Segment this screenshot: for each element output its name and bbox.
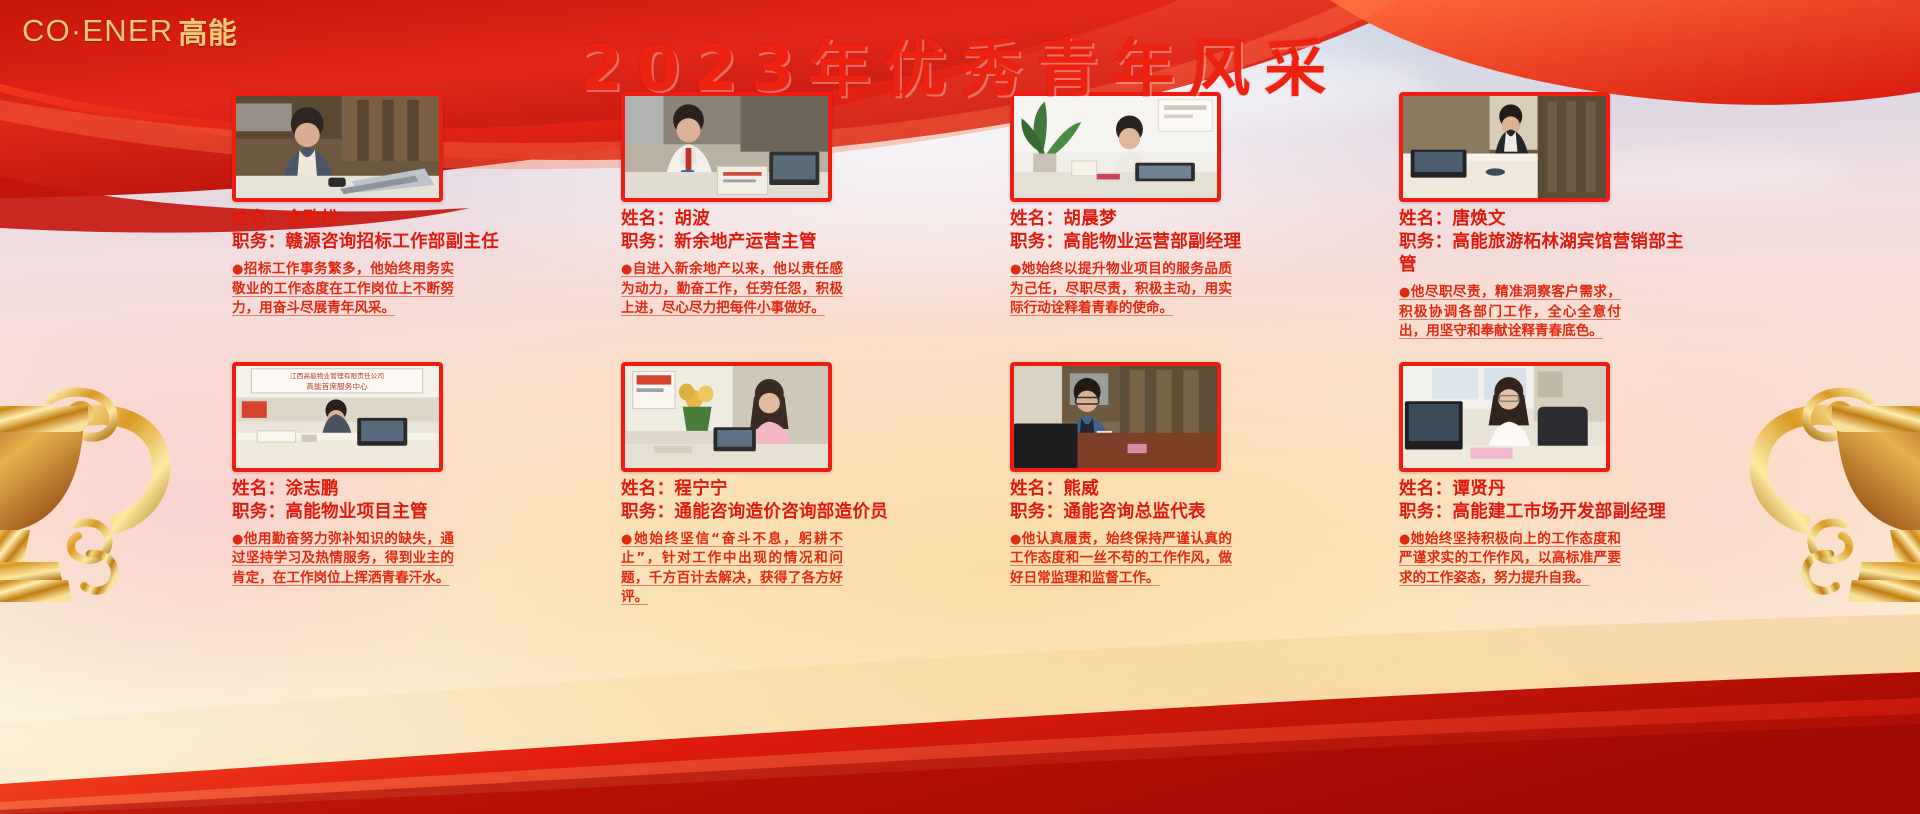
person-name-line: 姓名：谭贤丹 (1399, 478, 1701, 501)
person-name-line: 姓名：余致松 (232, 208, 534, 231)
person-card: 姓名：胡波 职务：新余地产运营主管 ●自进入新余地产以来，他以责任感为动力，勤奋… (621, 92, 923, 342)
person-photo-frame (1010, 92, 1221, 202)
person-photo-frame (1399, 92, 1610, 202)
brand-logo: CO·ENER 高能 (22, 10, 237, 52)
person-description: ●招标工作事务繁多，他始终用务实敬业的工作态度在工作岗位上不断努力，用奋斗尽展青… (232, 260, 454, 319)
bullet-icon: ● (1399, 285, 1411, 300)
svg-text:江西高能物业管理有限责任公司: 江西高能物业管理有限责任公司 (290, 371, 384, 380)
person-name: 程宁宁 (674, 479, 727, 499)
person-duty: 高能物业运营部副经理 (1063, 232, 1241, 252)
name-label: 姓名： (232, 209, 285, 229)
person-duty-line: 职务：高能物业项目主管 (232, 501, 534, 524)
person-photo (625, 96, 828, 198)
person-photo-frame (232, 92, 443, 202)
person-name: 胡波 (674, 209, 710, 229)
person-photo (625, 366, 828, 468)
person-description-text: 他认真履责，始终保持严谨认真的工作态度和一丝不苟的工作作风，做好日常监理和监督工… (1010, 531, 1232, 586)
person-photo (1014, 366, 1217, 468)
person-name: 胡晨梦 (1063, 209, 1116, 229)
person-card: 姓名：余致松 职务：赣源咨询招标工作部副主任 ●招标工作事务繁多，他始终用务实敬… (232, 92, 534, 342)
name-label: 姓名： (621, 479, 674, 499)
duty-label: 职务： (621, 502, 674, 522)
duty-label: 职务： (1010, 232, 1063, 252)
bullet-icon: ● (1010, 532, 1022, 547)
brand-logo-latin: CO·ENER (22, 13, 173, 49)
person-card: 姓名：程宁宁 职务：通能咨询造价咨询部造价员 ●她始终坚信“奋斗不息，躬耕不止”… (621, 362, 923, 608)
person-duty-line: 职务：通能咨询总监代表 (1010, 501, 1312, 524)
person-description: ●她始终坚信“奋斗不息，躬耕不止”，针对工作中出现的情况和问题，千方百计去解决，… (621, 530, 843, 608)
person-duty: 高能建工市场开发部副经理 (1452, 502, 1666, 522)
duty-label: 职务： (1399, 232, 1452, 252)
person-duty: 高能物业项目主管 (285, 502, 427, 522)
person-name-line: 姓名：唐焕文 (1399, 208, 1701, 231)
person-duty: 新余地产运营主管 (674, 232, 816, 252)
brand-logo-cn: 高能 (178, 10, 237, 52)
name-label: 姓名： (1399, 479, 1452, 499)
person-photo (1014, 96, 1217, 198)
person-duty-line: 职务：赣源咨询招标工作部副主任 (232, 231, 534, 254)
person-description: ●她始终坚持积极向上的工作态度和严谨求实的工作作风，以高标准严要求的工作姿态，努… (1399, 530, 1621, 589)
person-description: ●她始终以提升物业项目的服务品质为己任，尽职尽责，积极主动，用实际行动诠释着青春… (1010, 260, 1232, 319)
person-name: 熊威 (1063, 479, 1099, 499)
person-duty: 赣源咨询招标工作部副主任 (285, 232, 499, 252)
duty-label: 职务： (232, 502, 285, 522)
people-grid: 姓名：余致松 职务：赣源咨询招标工作部副主任 ●招标工作事务繁多，他始终用务实敬… (232, 92, 1702, 608)
person-duty-line: 职务：通能咨询造价咨询部造价员 (621, 501, 923, 524)
person-description: ●他认真履责，始终保持严谨认真的工作态度和一丝不苟的工作作风，做好日常监理和监督… (1010, 530, 1232, 589)
person-photo (236, 96, 439, 198)
person-name: 唐焕文 (1452, 209, 1505, 229)
name-label: 姓名： (621, 209, 674, 229)
bullet-icon: ● (232, 262, 244, 277)
duty-label: 职务： (1010, 502, 1063, 522)
person-card: 姓名：熊威 职务：通能咨询总监代表 ●他认真履责，始终保持严谨认真的工作态度和一… (1010, 362, 1312, 608)
person-duty: 通能咨询造价咨询部造价员 (674, 502, 888, 522)
person-photo-frame: 江西高能物业管理有限责任公司 高能首席服务中心 (232, 362, 443, 472)
person-description-text: 她始终以提升物业项目的服务品质为己任，尽职尽责，积极主动，用实际行动诠释着青春的… (1010, 261, 1232, 316)
person-description: ●自进入新余地产以来，他以责任感为动力，勤奋工作，任劳任怨，积极上进，尽心尽力把… (621, 260, 843, 319)
person-name: 涂志鹏 (285, 479, 338, 499)
name-label: 姓名： (232, 479, 285, 499)
person-photo: 江西高能物业管理有限责任公司 高能首席服务中心 (236, 366, 439, 468)
person-photo-frame (621, 92, 832, 202)
person-name-line: 姓名：胡晨梦 (1010, 208, 1312, 231)
person-name-line: 姓名：程宁宁 (621, 478, 923, 501)
bullet-icon: ● (1010, 262, 1022, 277)
person-name-line: 姓名：涂志鹏 (232, 478, 534, 501)
person-description-text: 他尽职尽责，精准洞察客户需求，积极协调各部门工作，全心全意付出，用坚守和奉献诠释… (1399, 284, 1621, 339)
duty-label: 职务： (621, 232, 674, 252)
name-label: 姓名： (1010, 209, 1063, 229)
person-description-text: 她始终坚信“奋斗不息，躬耕不止”，针对工作中出现的情况和问题，千方百计去解决，获… (621, 531, 843, 606)
bullet-icon: ● (621, 262, 633, 277)
bullet-icon: ● (1399, 532, 1411, 547)
person-duty-line: 职务：高能旅游柘林湖宾馆营销部主管 (1399, 231, 1701, 277)
poster-root: CO·ENER 高能 2023年优秀青年风采 姓名：余致松 职务：赣源咨询招标工 (0, 0, 1920, 814)
person-description-text: 她始终坚持积极向上的工作态度和严谨求实的工作作风，以高标准严要求的工作姿态，努力… (1399, 531, 1621, 586)
person-photo-frame (621, 362, 832, 472)
bullet-icon: ● (621, 532, 634, 547)
person-duty-line: 职务：高能建工市场开发部副经理 (1399, 501, 1701, 524)
person-duty-line: 职务：高能物业运营部副经理 (1010, 231, 1312, 254)
person-duty: 通能咨询总监代表 (1063, 502, 1205, 522)
person-card: 姓名：谭贤丹 职务：高能建工市场开发部副经理 ●她始终坚持积极向上的工作态度和严… (1399, 362, 1701, 608)
person-duty-line: 职务：新余地产运营主管 (621, 231, 923, 254)
person-photo-frame (1399, 362, 1610, 472)
person-description: ●他尽职尽责，精准洞察客户需求，积极协调各部门工作，全心全意付出，用坚守和奉献诠… (1399, 283, 1621, 342)
svg-text:高能首席服务中心: 高能首席服务中心 (306, 381, 368, 391)
duty-label: 职务： (232, 232, 285, 252)
person-description-text: 招标工作事务繁多，他始终用务实敬业的工作态度在工作岗位上不断努力，用奋斗尽展青年… (232, 261, 454, 316)
name-label: 姓名： (1399, 209, 1452, 229)
duty-label: 职务： (1399, 502, 1452, 522)
person-name: 余致松 (285, 209, 338, 229)
page-title: 2023年优秀青年风采 (0, 18, 1920, 108)
person-card: 姓名：唐焕文 职务：高能旅游柘林湖宾馆营销部主管 ●他尽职尽责，精准洞察客户需求… (1399, 92, 1701, 342)
person-description-text: 自进入新余地产以来，他以责任感为动力，勤奋工作，任劳任怨，积极上进，尽心尽力把每… (621, 261, 843, 316)
person-card: 姓名：胡晨梦 职务：高能物业运营部副经理 ●她始终以提升物业项目的服务品质为己任… (1010, 92, 1312, 342)
person-name: 谭贤丹 (1452, 479, 1505, 499)
person-name-line: 姓名：胡波 (621, 208, 923, 231)
person-photo (1403, 96, 1606, 198)
person-photo-frame (1010, 362, 1221, 472)
bullet-icon: ● (232, 532, 244, 547)
person-description-text: 他用勤奋努力弥补知识的缺失，通过坚持学习及热情服务，得到业主的肯定，在工作岗位上… (232, 531, 454, 586)
person-card: 江西高能物业管理有限责任公司 高能首席服务中心 姓名：涂志鹏 职务：高能物业项目… (232, 362, 534, 608)
person-photo (1403, 366, 1606, 468)
person-name-line: 姓名：熊威 (1010, 478, 1312, 501)
person-description: ●他用勤奋努力弥补知识的缺失，通过坚持学习及热情服务，得到业主的肯定，在工作岗位… (232, 530, 454, 589)
name-label: 姓名： (1010, 479, 1063, 499)
